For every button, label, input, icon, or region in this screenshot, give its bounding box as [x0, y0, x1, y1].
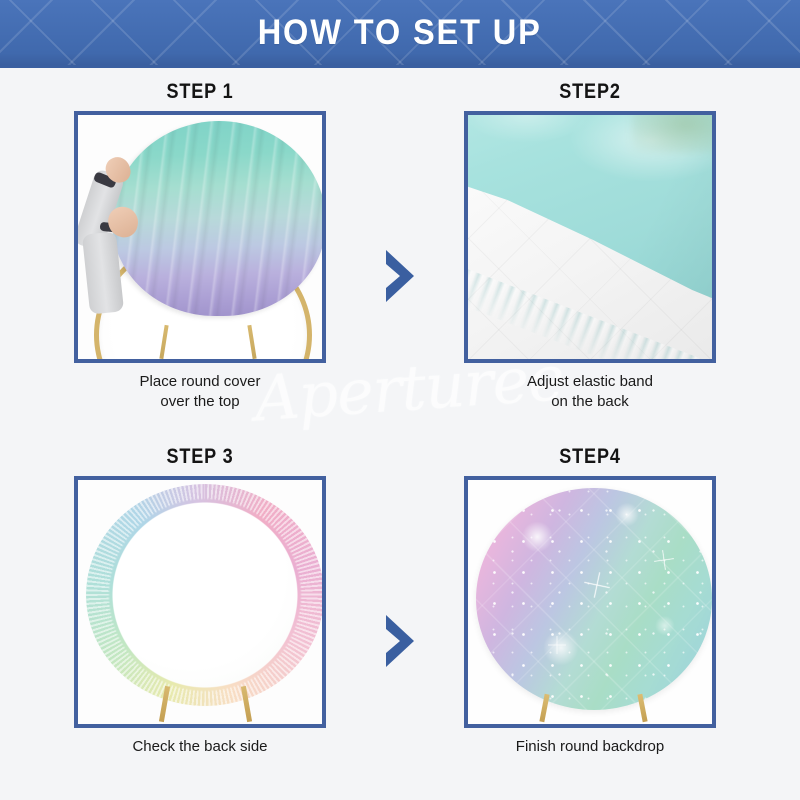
- step-photo-frame-2: [464, 111, 716, 363]
- chevron-right-icon: [380, 248, 420, 304]
- step-photo-frame-1: [74, 111, 326, 363]
- step-card-2: STEP2 Adjust elastic band on the back: [400, 78, 780, 412]
- page-header: HOW TO SET UP: [0, 0, 800, 68]
- glow-spots: [476, 488, 712, 710]
- step-photo-frame-3: [74, 476, 326, 728]
- step-caption-4: Finish round backdrop: [400, 737, 780, 757]
- step-label-4: STEP4: [427, 443, 754, 473]
- step-label-1: STEP 1: [37, 78, 364, 108]
- fabric-folds: [112, 121, 322, 316]
- step-caption-2-line2: on the back: [400, 392, 780, 412]
- backdrop-back-side-image: [78, 480, 322, 724]
- background-blur: [632, 115, 712, 153]
- chevron-right-icon: [380, 613, 420, 669]
- step-caption-2-line1: Adjust elastic band: [400, 372, 780, 392]
- sparkle-icon: [548, 636, 566, 654]
- hands-pulling-cover-over-hoop-image: [78, 115, 322, 359]
- step-label-2: STEP2: [427, 78, 754, 108]
- step-caption-1-line2: over the top: [10, 392, 390, 412]
- step-card-4: STEP4 Finish round backdrop: [400, 443, 780, 757]
- finished-round-backdrop-image: [468, 480, 712, 724]
- step-caption-3: Check the back side: [10, 737, 390, 757]
- step-caption-1: Place round cover over the top: [10, 372, 390, 412]
- gradient-cover-fabric: [112, 121, 322, 316]
- rim-ridges: [86, 484, 322, 706]
- page-title: HOW TO SET UP: [258, 13, 542, 53]
- step-caption-4-line1: Finish round backdrop: [400, 737, 780, 757]
- step-photo-frame-4: [464, 476, 716, 728]
- sparkle-icon: [653, 549, 676, 572]
- steps-grid: STEP 1 Place round cover over the top: [0, 68, 800, 800]
- step-card-1: STEP 1 Place round cover over the top: [10, 78, 390, 412]
- pastel-gradient-backdrop: [476, 488, 712, 710]
- elastic-band-closeup-image: [468, 115, 712, 359]
- arrow-step1-to-step2: [380, 248, 420, 304]
- step-caption-1-line1: Place round cover: [10, 372, 390, 392]
- step-caption-2: Adjust elastic band on the back: [400, 372, 780, 412]
- step-card-3: STEP 3 Check the back side: [10, 443, 390, 757]
- arrow-step3-to-step4: [380, 613, 420, 669]
- step-label-3: STEP 3: [37, 443, 364, 473]
- sparkle-icon: [582, 570, 613, 601]
- step-caption-3-line1: Check the back side: [10, 737, 390, 757]
